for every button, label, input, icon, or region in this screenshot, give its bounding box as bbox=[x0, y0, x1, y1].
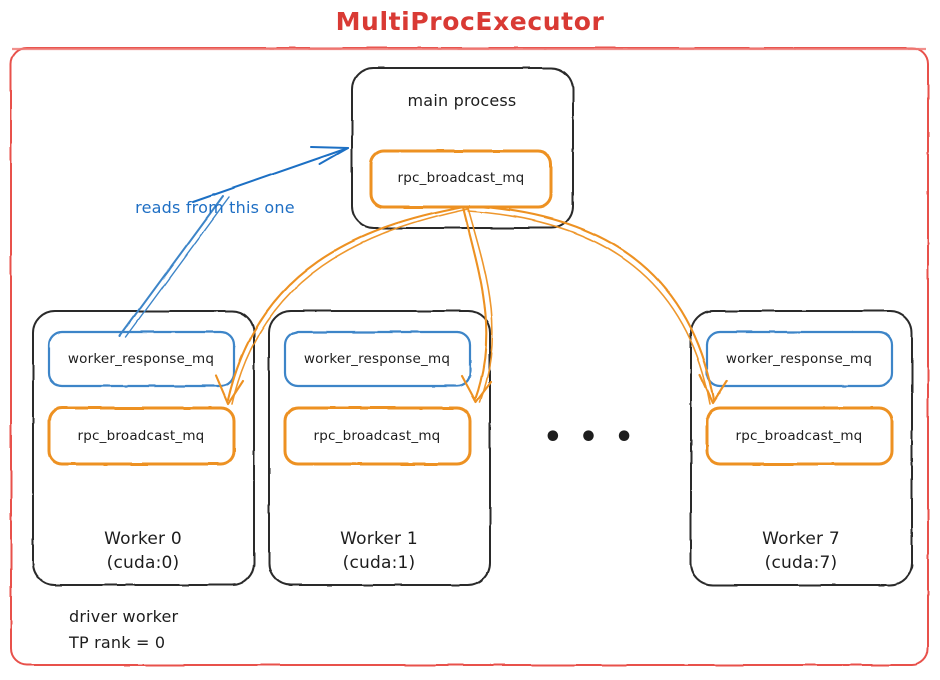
reads-from-arrow bbox=[193, 147, 348, 202]
broadcast-arrow-to-worker-7 bbox=[468, 206, 727, 404]
worker-1-device: (cuda:1) bbox=[343, 551, 416, 576]
page-title: MultiProcExecutor bbox=[336, 7, 605, 36]
worker-1-broadcast-mq-label: rpc_broadcast_mq bbox=[314, 428, 441, 444]
worker-7-response-mq-label: worker_response_mq bbox=[726, 351, 872, 367]
worker-7-device: (cuda:7) bbox=[765, 551, 838, 576]
worker-0-device: (cuda:0) bbox=[107, 551, 180, 576]
diagram-canvas: MultiProcExecutor main process rpc_broad… bbox=[0, 0, 940, 680]
worker-1-name: Worker 1 bbox=[340, 527, 418, 552]
worker-0-name: Worker 0 bbox=[104, 527, 182, 552]
worker-1-response-mq-label: worker_response_mq bbox=[304, 351, 450, 367]
workers-ellipsis: • • • bbox=[543, 420, 636, 455]
worker-0-response-mq-label: worker_response_mq bbox=[68, 351, 214, 367]
reads-from-annotation: reads from this one bbox=[135, 198, 295, 217]
worker-0-broadcast-mq-label: rpc_broadcast_mq bbox=[78, 428, 205, 444]
worker-7-broadcast-mq-label: rpc_broadcast_mq bbox=[736, 428, 863, 444]
driver-worker-note-line1: driver worker bbox=[69, 604, 178, 630]
main-rpc-broadcast-mq-label: rpc_broadcast_mq bbox=[398, 170, 525, 186]
main-process-label: main process bbox=[408, 91, 517, 110]
worker-7-name: Worker 7 bbox=[762, 527, 840, 552]
driver-worker-note-line2: TP rank = 0 bbox=[69, 630, 165, 656]
